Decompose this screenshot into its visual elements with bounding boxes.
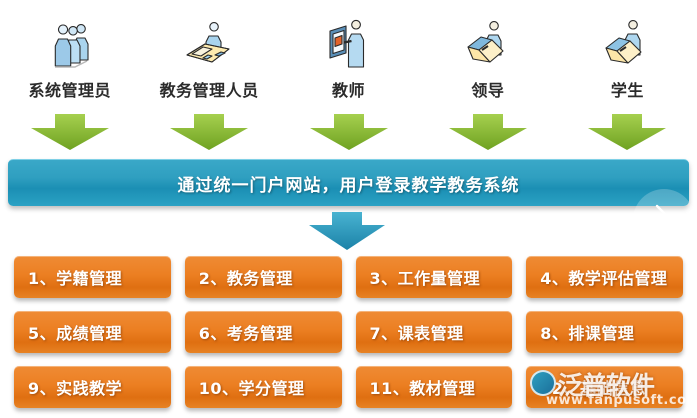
module-label: 10、学分管理: [199, 375, 305, 399]
modules-grid: 1、学籍管理 2、教务管理 3、工作量管理 4、教学评估管理 5、成绩管理 6、…: [14, 256, 683, 408]
module-box-10[interactable]: 10、学分管理: [185, 366, 342, 408]
flow-arrow-cell-4: [418, 106, 557, 158]
role-label: 教师: [332, 81, 365, 105]
module-label: 7、课表管理: [370, 320, 464, 344]
green-down-arrow-icon: [584, 112, 670, 152]
portal-arrow-wrap: [0, 208, 697, 254]
flow-arrow-cell-3: [279, 106, 418, 158]
module-box-7[interactable]: 7、课表管理: [356, 311, 513, 353]
portal-banner-text: 通过统一门户网站，用户登录教学教务系统: [178, 171, 520, 196]
role-item-academic-staff[interactable]: 教务管理人员: [139, 0, 278, 105]
green-down-arrow-icon: [27, 112, 113, 152]
module-label: 12、基础信息: [540, 375, 646, 399]
next-slide-button[interactable]: [633, 189, 695, 251]
module-box-1[interactable]: 1、学籍管理: [14, 256, 171, 298]
module-label: 1、学籍管理: [28, 265, 122, 289]
role-item-student[interactable]: 学生: [558, 0, 697, 105]
role-item-teacher[interactable]: 教师: [279, 0, 418, 105]
roles-row: 系统管理员 教务管理人员: [0, 0, 697, 105]
student-laptop-icon: [596, 17, 658, 79]
role-item-system-admin[interactable]: 系统管理员: [0, 0, 139, 105]
module-box-8[interactable]: 8、排课管理: [526, 311, 683, 353]
module-label: 6、考务管理: [199, 320, 293, 344]
portal-banner: 通过统一门户网站，用户登录教学教务系统: [8, 159, 689, 206]
module-label: 8、排课管理: [540, 320, 634, 344]
module-box-12[interactable]: 12、基础信息: [526, 366, 683, 408]
module-label: 9、实践教学: [28, 375, 122, 399]
module-box-6[interactable]: 6、考务管理: [185, 311, 342, 353]
module-label: 5、成绩管理: [28, 320, 122, 344]
green-arrows-row: [0, 106, 697, 158]
green-down-arrow-icon: [166, 112, 252, 152]
module-label: 3、工作量管理: [370, 265, 481, 289]
role-item-leader[interactable]: 领导: [418, 0, 557, 105]
module-label: 11、教材管理: [370, 375, 476, 399]
role-label: 教务管理人员: [160, 81, 259, 105]
flow-arrow-cell-5: [558, 106, 697, 158]
module-box-11[interactable]: 11、教材管理: [356, 366, 513, 408]
module-box-5[interactable]: 5、成绩管理: [14, 311, 171, 353]
module-label: 4、教学评估管理: [540, 265, 667, 289]
flow-arrow-cell-1: [0, 106, 139, 158]
module-box-3[interactable]: 3、工作量管理: [356, 256, 513, 298]
role-label: 系统管理员: [28, 81, 111, 105]
module-box-2[interactable]: 2、教务管理: [185, 256, 342, 298]
module-box-4[interactable]: 4、教学评估管理: [526, 256, 683, 298]
leader-laptop-icon: [457, 17, 519, 79]
users-group-icon: [39, 17, 101, 79]
module-label: 2、教务管理: [199, 265, 293, 289]
blue-down-arrow-icon: [305, 210, 389, 252]
role-label: 学生: [611, 81, 644, 105]
role-label: 领导: [471, 81, 504, 105]
green-down-arrow-icon: [445, 112, 531, 152]
desk-clerk-icon: [178, 17, 240, 79]
flow-arrow-cell-2: [139, 106, 278, 158]
green-down-arrow-icon: [306, 112, 392, 152]
chevron-right-icon: [651, 203, 677, 237]
module-box-9[interactable]: 9、实践教学: [14, 366, 171, 408]
teacher-whiteboard-icon: [318, 17, 380, 79]
